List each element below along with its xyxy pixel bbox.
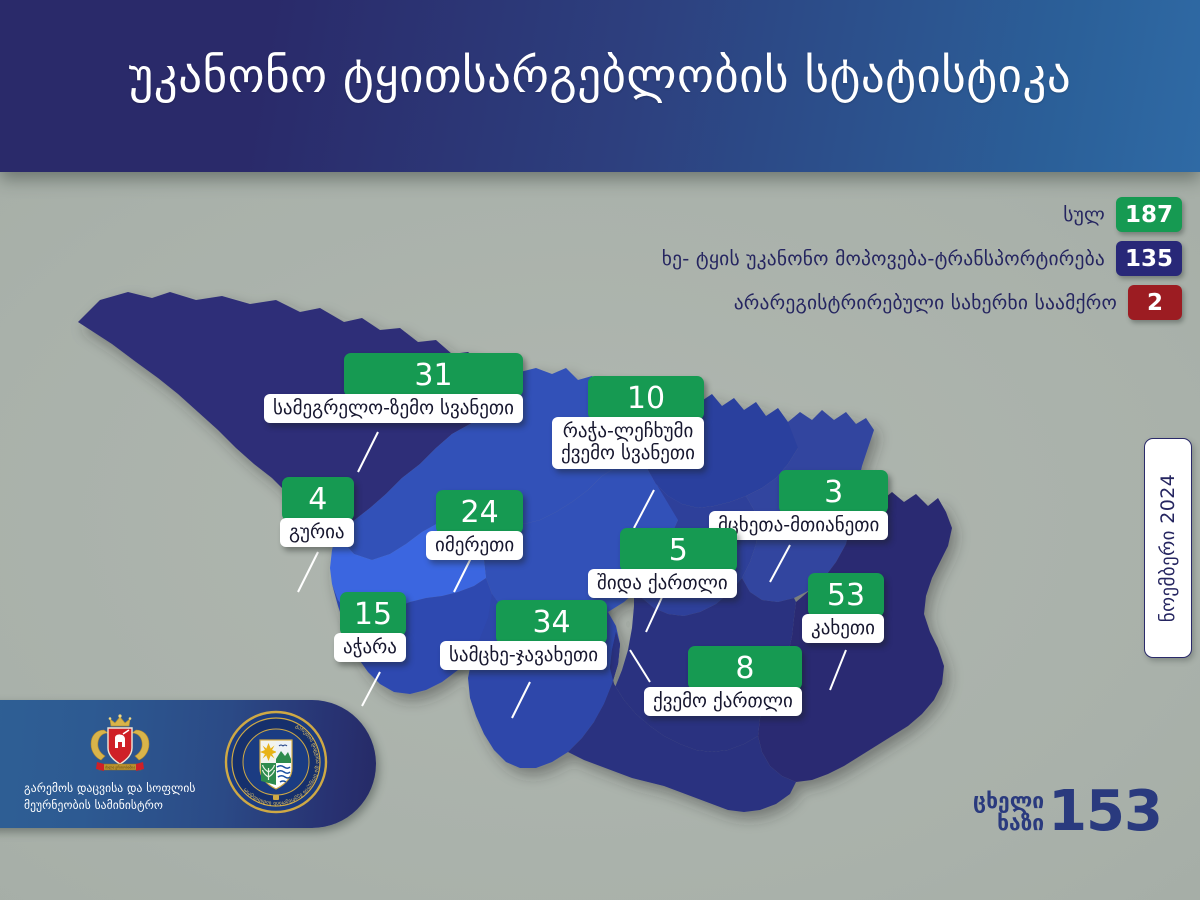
marker-label-kvemo-kartli: ქვემო ქართლი [644,687,802,716]
marker-samtskhe-javakheti: 34 სამცხე-ჯავახეთი [496,600,607,670]
legend-badge-total: 187 [1116,197,1182,232]
marker-value-kakheti: 53 [808,573,884,617]
ministry-name-line2: მეურნეობის სამინისტრო [24,797,196,814]
legend-label-illegal-logging-transport: ხე- ტყის უკანონო მოპოვება-ტრანსპორტირება [662,247,1105,270]
marker-shida-kartli: 5 შიდა ქართლი [620,528,737,598]
legend-badge-unregistered-sawmill: 2 [1128,285,1182,320]
marker-label-adjara: აჭარა [334,633,406,662]
marker-kvemo-kartli: 8 ქვემო ქართლი [688,646,802,716]
legend-label-total: სულ [1063,203,1105,226]
hotline: ცხელი ხაზი 153 [973,786,1162,838]
georgia-coat-of-arms-icon: ძალა ერთობაშია [77,714,163,774]
infographic-canvas: უკანონო ტყითსარგებლობის სტატისტიკა სულ 1… [0,0,1200,900]
marker-label-racha-lechkhumi-kvemo-svaneti: რაჭა-ლეჩხუმი ქვემო სვანეთი [552,417,704,469]
legend-row-unregistered-sawmill: არარეგისტრირებული სახერხი საამქრო 2 [734,285,1182,320]
ministry-seal-icon: გარემოს დაცვისა და სოფლის მეურნეობის სამ… [224,710,328,814]
legend-badge-illegal-logging-transport: 135 [1116,241,1182,276]
marker-kakheti: 53 კახეთი [808,573,884,643]
ministry-name: გარემოს დაცვისა და სოფლის მეურნეობის სამ… [24,780,196,813]
legend-row-illegal-logging-transport: ხე- ტყის უკანონო მოპოვება-ტრანსპორტირება… [662,241,1182,276]
legend-row-total: სულ 187 [1063,197,1182,232]
marker-samegrelo-zemo-svaneti: 31 სამეგრელო-ზემო სვანეთი [344,353,523,423]
marker-mtskheta-mtianeti: 3 მცხეთა-მთიანეთი [779,470,888,540]
hotline-label-line1: ცხელი [973,790,1044,812]
marker-value-adjara: 15 [340,592,406,636]
marker-label-line1: რაჭა-ლეჩხუმი [561,420,695,442]
hotline-label: ცხელი ხაზი [973,790,1044,835]
marker-label-guria: გურია [280,518,354,547]
ministry-banner: ძალა ერთობაშია გარემოს დაცვისა და სოფლის… [0,700,376,828]
marker-value-samegrelo-zemo-svaneti: 31 [344,353,523,397]
header-banner: უკანონო ტყითსარგებლობის სტატისტიკა [0,0,1200,172]
legend: სულ 187 ხე- ტყის უკანონო მოპოვება-ტრანსპ… [662,197,1182,320]
date-tab: ნოემბერი 2024 [1144,438,1192,658]
marker-label-imereti: იმერეთი [426,531,523,560]
marker-label-shida-kartli: შიდა ქართლი [588,569,737,598]
marker-value-mtskheta-mtianeti: 3 [779,470,888,514]
marker-imereti: 24 იმერეთი [436,490,523,560]
legend-label-unregistered-sawmill: არარეგისტრირებული სახერხი საამქრო [734,291,1117,314]
marker-value-imereti: 24 [436,490,523,534]
hotline-number: 153 [1048,786,1162,838]
ministry-identity: ძალა ერთობაშია გარემოს დაცვისა და სოფლის… [24,714,216,813]
marker-label-line2: ქვემო სვანეთი [561,442,695,464]
marker-value-shida-kartli: 5 [620,528,737,572]
marker-guria: 4 გურია [282,477,354,547]
date-tab-label: ნოემბერი 2024 [1157,474,1179,622]
marker-value-samtskhe-javakheti: 34 [496,600,607,644]
marker-label-samtskhe-javakheti: სამცხე-ჯავახეთი [440,641,607,670]
marker-label-samegrelo-zemo-svaneti: სამეგრელო-ზემო სვანეთი [264,394,523,423]
marker-adjara: 15 აჭარა [340,592,406,662]
marker-value-kvemo-kartli: 8 [688,646,802,690]
marker-value-guria: 4 [282,477,354,521]
marker-label-kakheti: კახეთი [802,614,884,643]
hotline-label-line2: ხაზი [973,812,1044,834]
page-title: უკანონო ტყითსარგებლობის სტატისტიკა [129,53,1072,100]
svg-text:ძალა ერთობაშია: ძალა ერთობაშია [105,766,135,770]
ministry-name-line1: გარემოს დაცვისა და სოფლის [24,780,196,797]
marker-racha-lechkhumi-kvemo-svaneti: 10 რაჭა-ლეჩხუმი ქვემო სვანეთი [588,376,704,469]
ministry-seal-wrap: გარემოს დაცვისა და სოფლის მეურნეობის სამ… [224,710,328,818]
marker-value-racha-lechkhumi-kvemo-svaneti: 10 [588,376,704,420]
